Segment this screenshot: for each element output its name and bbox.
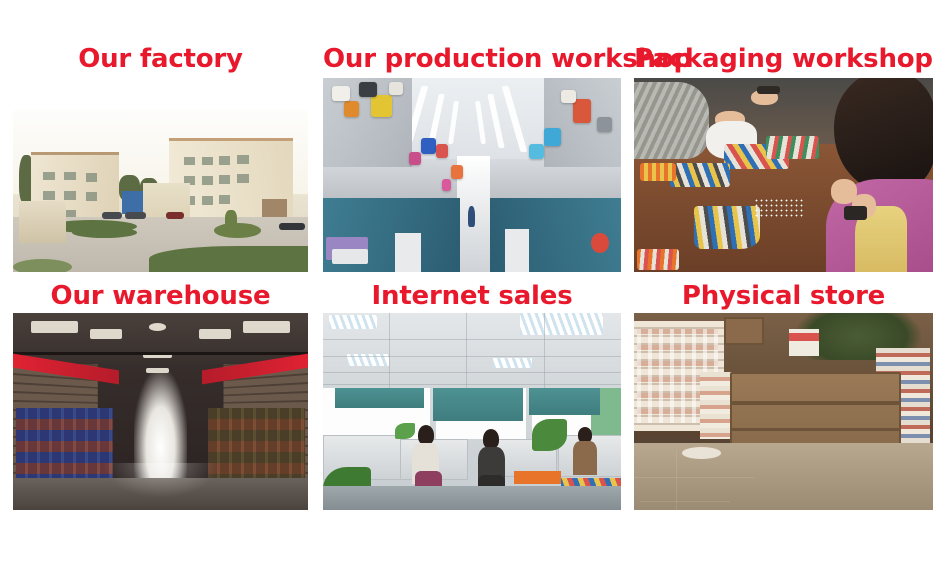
photo-our-warehouse <box>13 313 308 510</box>
cell-production-workshop: Our production workshop <box>323 30 621 272</box>
caption-our-production-workshop: Our production workshop <box>323 44 621 74</box>
promo-image-grid: Our factory <box>0 0 950 568</box>
cell-internet-sales: Internet sales <box>323 278 621 510</box>
cell-packaging-workshop: Packaging workshop <box>634 30 933 272</box>
caption-physical-store: Physical store <box>634 281 933 311</box>
cell-warehouse: Our warehouse <box>13 278 308 510</box>
photo-our-factory <box>13 110 308 272</box>
caption-internet-sales: Internet sales <box>323 281 621 311</box>
caption-packaging-workshop: Packaging workshop <box>634 44 933 74</box>
caption-our-warehouse: Our warehouse <box>13 281 308 311</box>
cell-factory: Our factory <box>13 30 308 272</box>
photo-internet-sales <box>323 313 621 510</box>
photo-physical-store <box>634 313 933 510</box>
caption-our-factory: Our factory <box>13 44 308 74</box>
photo-packaging-workshop <box>634 78 933 272</box>
photo-our-production-workshop <box>323 78 621 272</box>
cell-physical-store: Physical store <box>634 278 933 510</box>
